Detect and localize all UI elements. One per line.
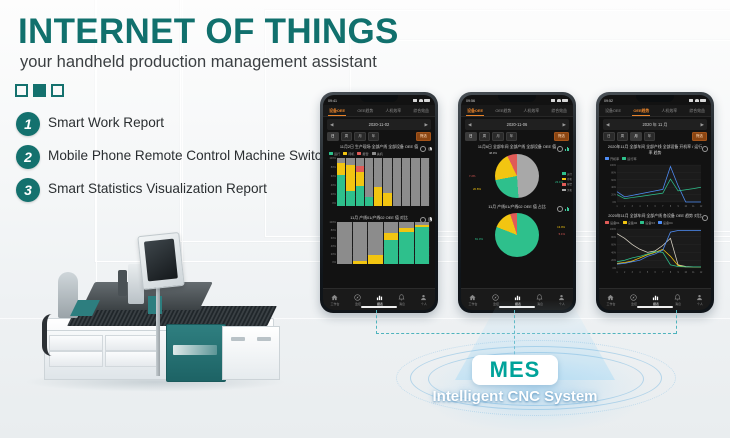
period-filter-2[interactable]: 日 周 月 年 筛选 [465, 132, 569, 141]
bar-segment [374, 187, 382, 205]
svg-text:3: 3 [632, 272, 634, 274]
machine-drawer [105, 351, 159, 367]
card-title-text: 11月2日 生产现场 全部产线 全部设备 OEE 值 [340, 144, 418, 149]
battery-icon [424, 99, 430, 102]
square-marker-row [15, 84, 64, 97]
square-marker-1 [15, 84, 28, 97]
bullet-number: 1 [16, 112, 40, 136]
svg-text:2: 2 [624, 272, 626, 274]
phone-mockup-1: 09:41 设备OEE OEE趋势 人机效率 综合效益 ◀ 2020-11-02… [320, 92, 438, 313]
legend-label: 报警 [362, 151, 368, 156]
compass-icon [630, 294, 637, 301]
bar-series [337, 222, 429, 264]
line-chart-3a: 100%80%60%40%20%0%123456789101112 [607, 163, 703, 209]
svg-text:11: 11 [692, 206, 695, 208]
clock-icon[interactable] [557, 206, 563, 212]
pie-chart-2a: 48.9% 23.1% 20.8% 7.2% 运行 待机 报警 关机 [461, 154, 573, 198]
navbar-item-report[interactable]: 报表 [652, 294, 659, 306]
square-marker-3 [51, 84, 64, 97]
pie-toggle-icon[interactable] [428, 217, 433, 222]
legend-item: 开机率 [605, 156, 619, 161]
tab-man-machine-efficiency[interactable]: 人机效率 [661, 108, 679, 114]
signal-icon [689, 99, 693, 102]
svg-text:11: 11 [692, 272, 695, 274]
card-tools[interactable] [702, 146, 708, 152]
bar-column [384, 222, 399, 264]
user-icon [696, 294, 703, 301]
card-title-text: 2020年11月 全部车间 全部产线 各设备 OEE 趋势 对比 [608, 213, 702, 218]
bar-segment [337, 222, 352, 264]
navbar-item-monitor[interactable]: 监控 [630, 294, 637, 306]
navbar-item-monitor[interactable]: 监控 [354, 294, 361, 306]
wifi-icon [419, 99, 423, 102]
svg-text:8: 8 [670, 206, 672, 208]
bar-segment [415, 227, 430, 264]
page-title: INTERNET OF THINGS [18, 12, 399, 52]
bar-segment [346, 191, 354, 205]
status-time: 09:41 [328, 99, 337, 103]
user-icon [558, 294, 565, 301]
tab-oee-trend[interactable]: OEE趋势 [494, 108, 512, 114]
tab-device-oee[interactable]: 设备OEE [604, 108, 622, 114]
bar-segment [356, 186, 364, 206]
bar-column [374, 158, 382, 206]
bar-segment [346, 165, 354, 191]
legend-item: 设备04 [658, 220, 673, 225]
machine-rail [42, 314, 65, 356]
status-icons [551, 99, 568, 102]
period-chip-month[interactable]: 月 [492, 132, 504, 141]
legend-label: 运行 [334, 151, 340, 156]
navbar-item-profile[interactable]: 个人 [696, 294, 703, 306]
battery-icon [700, 99, 706, 102]
bar-column [421, 158, 429, 206]
filter-button[interactable]: 筛选 [692, 132, 707, 141]
legend-label: 关机 [377, 151, 383, 156]
compass-icon [492, 294, 499, 301]
period-chip-day[interactable]: 日 [603, 132, 615, 141]
period-chip-year[interactable]: 年 [506, 132, 518, 141]
status-time: 09:56 [466, 99, 475, 103]
mes-badge: MES [472, 355, 558, 385]
bar-segment [383, 193, 391, 205]
chart-icon [376, 294, 383, 301]
filter-button[interactable]: 筛选 [554, 132, 569, 141]
svg-text:80%: 80% [611, 172, 617, 175]
phone-notch [498, 95, 536, 102]
card-title-text: 11月 产线01/产线02 OEE 值 占比 [488, 204, 545, 209]
card-title-2b: 11月 产线01/产线02 OEE 值 占比 [468, 204, 566, 210]
phone-screen-3: 09:52 设备OEE OEE趋势 人机效率 综合效益 ◀ 2020 年 11 … [599, 95, 711, 310]
period-filter-3[interactable]: 日 周 月 年 筛选 [603, 132, 707, 141]
pie-chart-2b: 81.0% 13.9% 5.1% [461, 213, 573, 257]
pie-annotation: 13.9% [557, 225, 565, 229]
svg-text:1: 1 [616, 206, 618, 208]
svg-text:7: 7 [662, 206, 664, 208]
bar-segment [337, 175, 345, 206]
legend-item: 设备01 [605, 220, 620, 225]
bar-segment [365, 158, 373, 197]
machine-cabinet [166, 324, 226, 382]
svg-text:5: 5 [647, 272, 649, 274]
legend-item: 待机 [562, 177, 572, 181]
machine-handle [231, 337, 245, 341]
date-selector-1[interactable]: ◀ 2020-11-02 ▶ [327, 119, 431, 130]
phone-screen-2: 09:56 设备OEE OEE趋势 人机效率 综合效益 ◀ 2020-11-06… [461, 95, 573, 310]
bullet-number: 3 [16, 178, 40, 202]
legend-3b: 设备01 设备02 设备03 设备04 [605, 220, 705, 225]
period-chip-day[interactable]: 日 [327, 132, 339, 141]
selected-date: 2020-11-06 [507, 122, 528, 127]
phone-mockup-3: 09:52 设备OEE OEE趋势 人机效率 综合效益 ◀ 2020 年 11 … [596, 92, 714, 313]
machine-laser-head-arm [118, 270, 127, 296]
svg-text:9: 9 [677, 272, 679, 274]
wifi-icon [695, 99, 699, 102]
bar-segment [402, 158, 410, 206]
card-title-1a: 11月2日 生产现场 全部产线 全部设备 OEE 值 [330, 144, 428, 150]
period-chip-year[interactable]: 年 [368, 132, 380, 141]
bell-icon [674, 294, 681, 301]
tab-oee-trend[interactable]: OEE趋势 [356, 108, 374, 114]
svg-text:10: 10 [684, 206, 687, 208]
period-filter-1[interactable]: 日 周 月 年 筛选 [327, 132, 431, 141]
bullet-text: Smart Statistics Visualization Report [48, 178, 267, 197]
bell-icon [536, 294, 543, 301]
navbar-item-message[interactable]: 消息 [398, 294, 405, 306]
bar-segment [374, 158, 382, 188]
list-item: 1 Smart Work Report [16, 112, 336, 136]
svg-text:40%: 40% [611, 251, 617, 254]
bar-column [346, 158, 354, 206]
svg-text:60%: 60% [611, 243, 617, 246]
bar-segment [393, 158, 401, 206]
svg-text:12: 12 [700, 206, 703, 208]
bullet-text: Mobile Phone Remote Control Machine Swit… [48, 145, 329, 164]
card-title-text: 2020年11月 全部车间 全部产线 全部设备 开机率 / 运行率 趋势 [608, 144, 702, 155]
feature-list: 1 Smart Work Report 2 Mobile Phone Remot… [16, 112, 336, 211]
selected-date: 2020 年 11 月 [643, 122, 668, 128]
legend-item: 设备02 [623, 220, 638, 225]
prev-date-icon[interactable]: ◀ [330, 122, 333, 128]
list-item: 2 Mobile Phone Remote Control Machine Sw… [16, 145, 336, 169]
card-title-2a: 11月6日 全部车间 全部产线 全部设备 OEE 值 [468, 144, 566, 150]
legend-item: 报警 [562, 182, 572, 186]
prev-date-icon[interactable]: ◀ [468, 122, 471, 128]
machine-hmi-screen [144, 239, 178, 282]
card-tools[interactable] [420, 146, 433, 152]
navbar-item-workbench[interactable]: 工作台 [330, 294, 339, 306]
machine-hmi-post [156, 280, 160, 376]
bar-segment [368, 255, 383, 264]
bar-chart-1b: 100%80%60%40%20%0% [328, 222, 430, 264]
bullet-text: Smart Work Report [48, 112, 164, 131]
card-title-1b: 11月 产线01/产线02 OEE 值 对比 [330, 215, 428, 221]
pie-toggle-icon[interactable] [428, 147, 433, 152]
legend-item: 关机 [372, 151, 383, 156]
svg-text:2: 2 [624, 206, 626, 208]
card-title-3b: 2020年11月 全部车间 全部产线 各设备 OEE 趋势 对比 [606, 213, 704, 219]
svg-text:80%: 80% [611, 236, 617, 239]
legend-item: 设备03 [640, 220, 655, 225]
wifi-icon [557, 99, 561, 102]
bar-segment [356, 158, 364, 166]
svg-text:20%: 20% [611, 259, 617, 262]
tab-man-machine-efficiency[interactable]: 人机效率 [523, 108, 541, 114]
legend-3a: 开机率 运行率 [605, 156, 705, 161]
y-axis: 100%80%60%40%20%0% [328, 222, 336, 264]
machine-drawer [105, 335, 159, 351]
chart-icon [514, 294, 521, 301]
bar-column [337, 222, 352, 264]
period-chip-month[interactable]: 月 [630, 132, 642, 141]
navbar-item-workbench[interactable]: 工作台 [606, 294, 615, 306]
bar-column [402, 158, 410, 206]
svg-text:6: 6 [655, 272, 657, 274]
legend-item: 报警 [357, 151, 368, 156]
bell-icon [398, 294, 405, 301]
signal-icon [413, 99, 417, 102]
bar-segment [356, 172, 364, 186]
tab-oee-trend[interactable]: OEE趋势 [632, 108, 650, 114]
period-chip-week[interactable]: 周 [479, 132, 491, 141]
laser-cutting-machine-image [16, 222, 294, 398]
machine-side-cabinet [222, 326, 280, 380]
next-date-icon[interactable]: ▶ [425, 122, 428, 128]
bar-segment [353, 261, 368, 264]
line-chart-3b: 100%80%60%40%20%0%123456789101112 [607, 227, 703, 275]
card-title-3a: 2020年11月 全部车间 全部产线 全部设备 开机率 / 运行率 趋势 [606, 144, 704, 155]
phone-notch [360, 95, 398, 102]
navbar-item-profile[interactable]: 个人 [420, 294, 427, 306]
connector-line-1 [376, 310, 377, 334]
card-tools[interactable] [557, 146, 570, 152]
card-tools[interactable] [702, 215, 708, 221]
legend-label: 待机 [348, 151, 354, 156]
navbar-item-report[interactable]: 报表 [376, 294, 383, 306]
user-icon [420, 294, 427, 301]
svg-text:9: 9 [677, 206, 679, 208]
legend-item: 运行 [562, 172, 572, 176]
clock-icon[interactable] [420, 146, 426, 152]
bar-toggle-icon[interactable] [565, 147, 570, 152]
tab-man-machine-efficiency[interactable]: 人机效率 [385, 108, 403, 114]
status-time: 09:52 [604, 99, 613, 103]
promo-banner: INTERNET OF THINGS your handheld product… [0, 0, 730, 438]
svg-text:6: 6 [655, 206, 657, 208]
list-item: 3 Smart Statistics Visualization Report [16, 178, 336, 202]
legend-1a: 运行 待机 报警 关机 [329, 151, 429, 156]
card-title-text: 11月6日 全部车间 全部产线 全部设备 OEE 值 [478, 144, 556, 149]
svg-text:7: 7 [662, 272, 664, 274]
next-date-icon[interactable]: ▶ [563, 122, 566, 128]
selected-date: 2020-11-02 [369, 122, 390, 127]
bar-segment [411, 158, 419, 206]
pie-graphic [495, 154, 539, 198]
clock-icon[interactable] [702, 146, 708, 152]
navbar-item-message[interactable]: 消息 [674, 294, 681, 306]
chart-icon [652, 294, 659, 301]
mes-badge-label: MES [490, 357, 541, 383]
pie-annotation: 5.1% [559, 232, 565, 236]
bar-column [415, 222, 430, 264]
svg-text:4: 4 [639, 272, 641, 274]
date-selector-2[interactable]: ◀ 2020-11-06 ▶ [465, 119, 569, 130]
bar-column [356, 158, 364, 206]
date-selector-3[interactable]: ◀ 2020 年 11 月 ▶ [603, 119, 707, 130]
pie-annotation: 7.2% [469, 174, 475, 178]
legend-item: 运行率 [622, 156, 636, 161]
svg-text:100%: 100% [610, 228, 617, 231]
page-subtitle: your handheld production management assi… [20, 53, 377, 72]
pie-graphic [495, 213, 539, 257]
tab-device-oee[interactable]: 设备OEE [466, 108, 484, 114]
svg-text:20%: 20% [611, 194, 617, 197]
home-icon [469, 294, 476, 301]
svg-text:0%: 0% [613, 267, 617, 270]
bar-column [353, 222, 368, 264]
machine-hmi-panel [137, 232, 184, 290]
bar-column [383, 158, 391, 206]
clock-icon[interactable] [557, 146, 563, 152]
svg-text:0%: 0% [613, 201, 617, 204]
bar-segment [346, 158, 354, 166]
battery-icon [562, 99, 568, 102]
period-chip-week[interactable]: 周 [617, 132, 629, 141]
y-axis: 100%80%60%40%20%0% [328, 158, 336, 206]
bar-column [337, 158, 345, 206]
bar-segment [383, 158, 391, 194]
bar-column [399, 222, 414, 264]
prev-date-icon[interactable]: ◀ [606, 122, 609, 128]
legend-2a: 运行 待机 报警 关机 [562, 172, 572, 192]
pie-annotation: 48.9% [489, 151, 497, 155]
tab-comprehensive-benefit[interactable]: 综合效益 [412, 108, 430, 114]
legend-item: 待机 [343, 151, 354, 156]
signal-icon [551, 99, 555, 102]
phone-mockup-2: 09:56 设备OEE OEE趋势 人机效率 综合效益 ◀ 2020-11-06… [458, 92, 576, 313]
filter-button[interactable]: 筛选 [416, 132, 431, 141]
pie-annotation: 81.0% [475, 237, 483, 241]
pie-annotation: 20.8% [473, 187, 481, 191]
legend-item: 关机 [562, 188, 572, 192]
tab-device-oee[interactable]: 设备OEE [328, 108, 346, 114]
square-marker-2 [33, 84, 46, 97]
status-icons [689, 99, 706, 102]
home-icon [607, 294, 614, 301]
bar-segment [368, 222, 383, 255]
svg-text:10: 10 [684, 272, 687, 274]
bar-segment [399, 232, 414, 264]
svg-text:4: 4 [639, 206, 641, 208]
phone-notch [636, 95, 674, 102]
svg-text:3: 3 [632, 206, 634, 208]
bar-series [337, 158, 429, 206]
bar-column [393, 158, 401, 206]
bar-segment [353, 222, 368, 261]
compass-icon [354, 294, 361, 301]
status-icons [413, 99, 430, 102]
navbar-item-workbench[interactable]: 工作台 [468, 294, 477, 306]
machine-logo [173, 345, 217, 355]
period-chip-day[interactable]: 日 [465, 132, 477, 141]
svg-text:5: 5 [647, 206, 649, 208]
home-icon [331, 294, 338, 301]
bar-column [365, 158, 373, 206]
svg-text:8: 8 [670, 272, 672, 274]
machine-handle [257, 337, 271, 341]
svg-text:100%: 100% [610, 164, 617, 167]
bar-segment [384, 240, 399, 264]
card-tools[interactable] [557, 206, 570, 212]
period-chip-week[interactable]: 周 [341, 132, 353, 141]
bar-column [368, 222, 383, 264]
bar-segment [365, 197, 373, 206]
legend-item: 运行 [329, 151, 340, 156]
phone-screen-1: 09:41 设备OEE OEE趋势 人机效率 综合效益 ◀ 2020-11-02… [323, 95, 435, 310]
mes-tagline: Intelligent CNC System [400, 388, 630, 405]
tab-comprehensive-benefit[interactable]: 综合效益 [688, 108, 706, 114]
next-date-icon[interactable]: ▶ [701, 122, 704, 128]
top-tabs-3[interactable]: 设备OEE OEE趋势 人机效率 综合效益 [599, 105, 711, 117]
home-indicator [637, 306, 673, 308]
clock-icon[interactable] [702, 215, 708, 221]
bar-column [411, 158, 419, 206]
period-chip-year[interactable]: 年 [644, 132, 656, 141]
svg-text:12: 12 [700, 272, 703, 274]
bar-toggle-icon[interactable] [565, 206, 570, 211]
bar-segment [421, 158, 429, 206]
period-chip-month[interactable]: 月 [354, 132, 366, 141]
card-title-text: 11月 产线01/产线02 OEE 值 对比 [350, 215, 407, 220]
bar-segment [337, 163, 345, 175]
tab-comprehensive-benefit[interactable]: 综合效益 [550, 108, 568, 114]
top-tabs-2[interactable]: 设备OEE OEE趋势 人机效率 综合效益 [461, 105, 573, 117]
bar-segment [384, 222, 399, 233]
bar-chart-1a: 100%80%60%40%20%0% [328, 158, 430, 206]
bar-segment [384, 233, 399, 240]
svg-text:60%: 60% [611, 179, 617, 182]
svg-text:40%: 40% [611, 186, 617, 189]
home-indicator [361, 306, 397, 308]
bullet-number: 2 [16, 145, 40, 169]
top-tabs-1[interactable]: 设备OEE OEE趋势 人机效率 综合效益 [323, 105, 435, 117]
svg-text:1: 1 [616, 272, 618, 274]
